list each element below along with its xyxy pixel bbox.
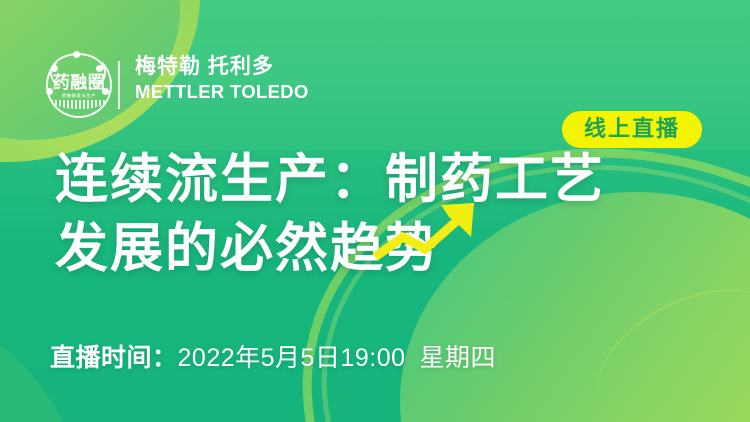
headline-line-2: 发展的必然趋势 <box>55 215 440 284</box>
logo-mark-text: 药融圈 <box>42 74 116 91</box>
schedule-datetime: 2022年5月5日19:00 <box>178 344 406 372</box>
poster-header: 药融圈 药物研发与生产 梅特勒 托利多 METTLER TOLEDO 线上直播 <box>0 46 750 124</box>
live-schedule: 直播时间：2022年5月5日19:00星期四 <box>50 338 496 374</box>
live-stream-badge[interactable]: 线上直播 <box>562 111 702 148</box>
logo-mark-subtext: 药物研发与生产 <box>42 94 116 98</box>
webinar-poster: 药融圈 药物研发与生产 梅特勒 托利多 METTLER TOLEDO 线上直播 … <box>0 0 750 422</box>
logo-node-top <box>73 51 80 58</box>
schedule-weekday: 星期四 <box>420 344 497 372</box>
logo-node-upper-left <box>51 65 58 72</box>
brand-name-chinese: 梅特勒 托利多 <box>135 54 305 80</box>
headline-line-2-wrapper: 发展的必然趋势 <box>55 215 605 284</box>
header-divider <box>118 61 120 109</box>
mettler-toledo-brand: 梅特勒 托利多 METTLER TOLEDO <box>135 54 305 104</box>
brand-name-english: METTLER TOLEDO <box>135 81 309 104</box>
yaorongquan-circle-logo-icon: 药融圈 药物研发与生产 <box>42 48 116 122</box>
headline-line-1: 连续流生产：制药工艺 <box>55 146 605 215</box>
poster-headline: 连续流生产：制药工艺 发展的必然趋势 <box>55 146 605 284</box>
logo-node-upper-right <box>96 65 103 72</box>
schedule-label: 直播时间： <box>50 344 178 372</box>
